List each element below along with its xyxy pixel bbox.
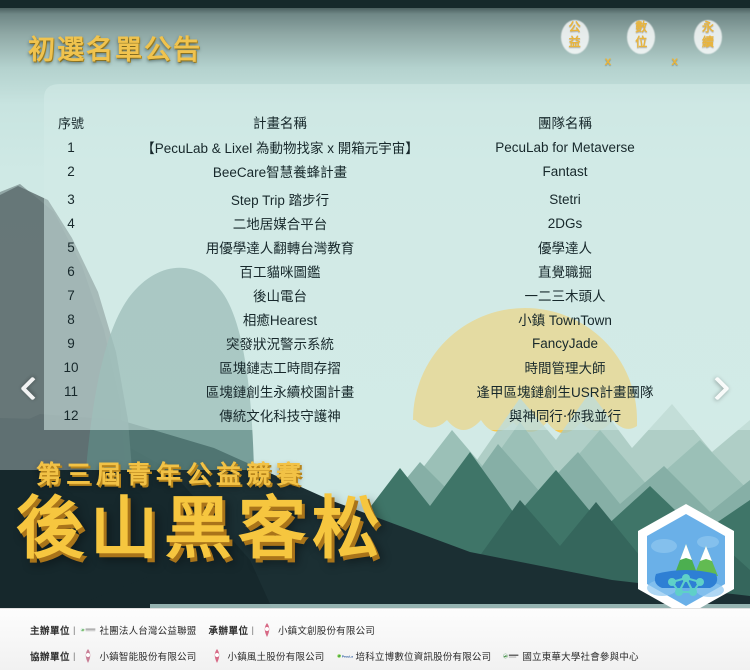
slide-canvas: 初選名單公告 公 益 x 數 位 x 永 續 序號 計畫名稱 團隊名稱 1 【P… <box>0 0 750 670</box>
sponsor-name: 小鎮風土股份有限公司 <box>228 649 325 663</box>
sponsor-name: 社團法人台灣公益聯盟 <box>99 623 196 637</box>
table-row: 2 BeeCare智慧養蜂計畫 Fantast <box>0 159 750 183</box>
cell-no: 1 <box>0 140 120 155</box>
column-header-name: 計畫名稱 <box>120 112 440 132</box>
cell-name: Step Trip 踏步行 <box>120 189 440 209</box>
sponsor-item: 社團法人台灣公益聯盟 <box>80 622 196 638</box>
badge-line-2: 位 <box>635 35 647 50</box>
cell-no: 6 <box>0 264 120 279</box>
shortlist-table: 序號 計畫名稱 團隊名稱 1 【PecuLab & Lixel 為動物找家 x … <box>0 110 750 427</box>
cell-name: 二地居媒合平台 <box>120 213 440 233</box>
badge-line-2: 續 <box>702 35 714 50</box>
badge-line-1: 公 <box>569 20 581 35</box>
table-row: 11 區塊鏈創生永續校園計畫 逢甲區塊鏈創生USR計畫團隊 <box>0 379 750 403</box>
footer-label-coorganizer: 協辦單位 <box>30 649 70 663</box>
table-row: 3 Step Trip 踏步行 Stetri <box>0 187 750 211</box>
cell-team: 小鎮 TownTown <box>440 309 690 329</box>
page-title: 初選名單公告 <box>28 28 202 67</box>
event-title: 後山黑客松 <box>16 490 386 568</box>
badge-sustainability: 永 續 <box>688 20 728 72</box>
footer-label-organizer: 主辦單位 <box>30 623 70 637</box>
footer-row-supporters: 協辦單位 | 小鎮智能股份有限公司 小鎮風土股份有限公司 <box>30 643 736 669</box>
svg-text:PecuLab: PecuLab <box>341 654 352 658</box>
cell-no: 3 <box>0 192 120 207</box>
cell-name: 用優學達人翻轉台灣教育 <box>120 237 440 257</box>
town-smart-logo <box>80 648 96 664</box>
cell-no: 7 <box>0 288 120 303</box>
cell-name: 【PecuLab & Lixel 為動物找家 x 開箱元宇宙】 <box>120 137 440 157</box>
cell-team: 逢甲區塊鏈創生USR計畫團隊 <box>440 381 690 401</box>
cell-team: PecuLab for Metaverse <box>440 140 690 155</box>
table-row: 5 用優學達人翻轉台灣教育 優學達人 <box>0 235 750 259</box>
footer-separator: | <box>252 625 254 636</box>
cell-name: 相癒Hearest <box>120 309 440 329</box>
table-header-row: 序號 計畫名稱 團隊名稱 <box>0 110 750 134</box>
event-subtitle: 第三屆青年公益競賽 <box>36 455 306 491</box>
cell-no: 9 <box>0 336 120 351</box>
peculab-logo: PecuLab <box>337 648 353 664</box>
table-row: 9 突發狀況警示系統 FancyJade <box>0 331 750 355</box>
badge-line-1: 數 <box>635 20 647 35</box>
cell-team: Fantast <box>440 164 690 179</box>
cell-team: 直覺職掘 <box>440 261 690 281</box>
cell-no: 12 <box>0 408 120 423</box>
taiwan-public-welfare-league-logo <box>80 622 96 638</box>
next-slide-button[interactable] <box>700 368 740 408</box>
table-row: 4 二地居媒合平台 2DGs <box>0 211 750 235</box>
sponsor-footer: 主辦單位 | 社團法人台灣公益聯盟 承辦單位 | 小鎮文創股份有 <box>0 608 750 670</box>
footer-label-executor: 承辦單位 <box>209 623 249 637</box>
sponsor-item: 小鎮智能股份有限公司 <box>80 648 196 664</box>
cell-team: 時間管理大師 <box>440 357 690 377</box>
table-row: 7 後山電台 一二三木頭人 <box>0 283 750 307</box>
cell-name: 突發狀況警示系統 <box>120 333 440 353</box>
cell-team: 優學達人 <box>440 237 690 257</box>
cell-no: 2 <box>0 164 120 179</box>
badge-line-1: 永 <box>702 20 714 35</box>
cell-no: 5 <box>0 240 120 255</box>
houshan-hackathon-hex-logo <box>634 502 738 618</box>
cell-name: 後山電台 <box>120 285 440 305</box>
cell-no: 8 <box>0 312 120 327</box>
badge-line-2: 益 <box>569 35 581 50</box>
sponsor-name: 培科立博數位資訊股份有限公司 <box>356 649 492 663</box>
town-terroir-logo <box>209 648 225 664</box>
sponsor-name: 小鎮文創股份有限公司 <box>278 623 375 637</box>
cell-team: 2DGs <box>440 216 690 231</box>
badge-separator-2: x <box>671 54 678 68</box>
table-row: 8 相癒Hearest 小鎮 TownTown <box>0 307 750 331</box>
cell-team: FancyJade <box>440 336 690 351</box>
column-header-no: 序號 <box>0 113 120 132</box>
table-row: 12 傳統文化科技守護神 與神同行‧你我並行 <box>0 403 750 427</box>
theme-badges: 公 益 x 數 位 x 永 續 <box>555 20 728 72</box>
badge-digital: 數 位 <box>621 20 661 72</box>
cell-name: 傳統文化科技守護神 <box>120 405 440 425</box>
prev-slide-button[interactable] <box>10 368 50 408</box>
sponsor-name: 國立東華大學社會參與中心 <box>522 649 638 663</box>
badge-separator-1: x <box>605 54 612 68</box>
chevron-right-icon <box>705 376 729 400</box>
town-culture-logo <box>259 622 275 638</box>
cell-name: 百工貓咪圖鑑 <box>120 261 440 281</box>
table-row: 1 【PecuLab & Lixel 為動物找家 x 開箱元宇宙】 PecuLa… <box>0 135 750 159</box>
chevron-left-icon <box>20 376 44 400</box>
table-row: 10 區塊鏈志工時間存摺 時間管理大師 <box>0 355 750 379</box>
footer-row-primary: 主辦單位 | 社團法人台灣公益聯盟 承辦單位 | 小鎮文創股份有 <box>30 617 736 643</box>
sponsor-name: 小鎮智能股份有限公司 <box>99 649 196 663</box>
cell-team: 一二三木頭人 <box>440 285 690 305</box>
table-row: 6 百工貓咪圖鑑 直覺職掘 <box>0 259 750 283</box>
cell-name: 區塊鏈創生永續校園計畫 <box>120 381 440 401</box>
badge-public-good: 公 益 <box>555 20 595 72</box>
cell-name: BeeCare智慧養蜂計畫 <box>120 161 440 181</box>
sponsor-item: 小鎮風土股份有限公司 <box>209 648 325 664</box>
ndhu-logo <box>503 648 519 664</box>
footer-separator: | <box>73 625 75 636</box>
sponsor-item: PecuLab 培科立博數位資訊股份有限公司 <box>337 648 492 664</box>
cell-team: Stetri <box>440 192 690 207</box>
cell-name: 區塊鏈志工時間存摺 <box>120 357 440 377</box>
column-header-team: 團隊名稱 <box>440 112 690 132</box>
sponsor-item: 國立東華大學社會參與中心 <box>503 648 638 664</box>
cell-no: 4 <box>0 216 120 231</box>
footer-separator: | <box>73 651 75 662</box>
sponsor-item: 小鎮文創股份有限公司 <box>259 622 375 638</box>
cell-team: 與神同行‧你我並行 <box>440 405 690 425</box>
